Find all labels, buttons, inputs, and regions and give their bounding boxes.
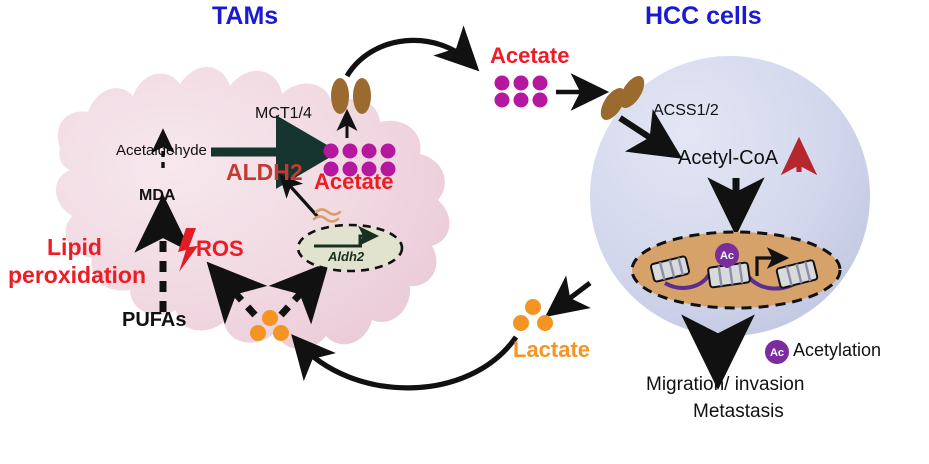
macrophage-shape xyxy=(56,67,450,349)
svg-text:Ac: Ac xyxy=(720,250,734,262)
lactate-dots-extracellular xyxy=(513,299,553,331)
mct-label: MCT1/4 xyxy=(255,106,312,122)
gene-locus-ellipse xyxy=(298,225,402,271)
mda-label: MDA xyxy=(139,188,175,204)
acetaldehyde-label: Acetaldehyde xyxy=(116,143,207,158)
lactate-label-extracellular: Lactate xyxy=(513,339,590,361)
ros-label: ROS xyxy=(196,238,244,260)
hcc-nucleus: Ac xyxy=(632,232,840,308)
tam-cell-body xyxy=(56,67,450,349)
figure-canvas: Ac Ac xyxy=(0,0,929,464)
tam-title: TAMs xyxy=(212,4,278,29)
lipid-peroxidation-label-line2: peroxidation xyxy=(8,264,146,287)
acetyl-coa-label: Acetyl-CoA xyxy=(678,148,778,168)
arrow-lactate-import-curve xyxy=(298,337,516,388)
aldh2-enzyme-label: ALDH2 xyxy=(226,161,303,184)
acetate-dots-extracellular xyxy=(495,76,548,108)
arrow-acetate-export-curve xyxy=(347,40,472,76)
aldh2-gene-label: Aldh2 xyxy=(328,250,364,263)
outcome-label-line1: Migration/ invasion xyxy=(646,375,804,394)
aldh2-gene-locus xyxy=(298,225,402,271)
acss-label: ACSS1/2 xyxy=(653,103,719,119)
hcc-title: HCC cells xyxy=(645,4,762,29)
lipid-peroxidation-label-line1: Lipid xyxy=(47,236,102,259)
acetate-label-extracellular: Acetate xyxy=(490,45,569,67)
svg-text:Ac: Ac xyxy=(770,347,784,359)
legend-acetylation-badge: Ac xyxy=(765,340,789,364)
acetate-label-intracellular: Acetate xyxy=(314,171,393,193)
pufas-label: PUFAs xyxy=(122,310,186,330)
acetylation-legend-label: Acetylation xyxy=(793,341,881,359)
outcome-label-line2: Metastasis xyxy=(693,402,784,421)
arrow-hcc-lactate-export xyxy=(553,283,590,311)
